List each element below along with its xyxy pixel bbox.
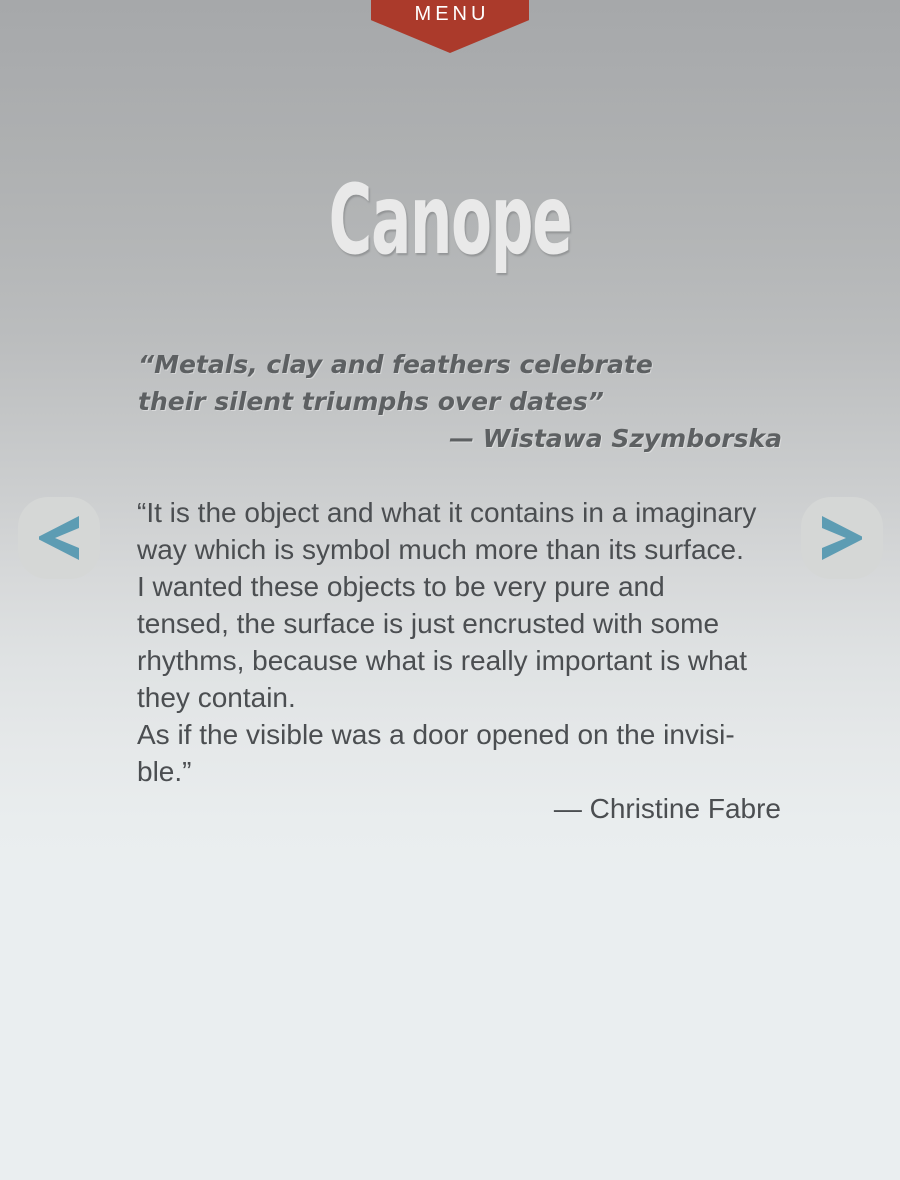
page-title: Canope [171,172,729,268]
statement-line-5: rhythms, because what is really importan… [137,642,797,679]
statement-line-2: way which is symbol much more than its s… [137,531,797,568]
epigraph-attribution: — Wistawa Szymborska [138,420,788,457]
epigraph-line-1: “Metals, clay and feathers celebrate [138,346,788,383]
statement-line-4: tensed, the surface is just encrusted wi… [137,605,797,642]
menu-button-label: MENU [411,0,490,24]
epigraph-quote: “Metals, clay and feathers celebrate the… [138,346,788,457]
next-slide-button[interactable] [801,497,883,579]
prev-slide-button[interactable] [18,497,100,579]
statement-line-6: they contain. [137,679,797,716]
menu-button[interactable]: MENU [371,0,529,53]
statement-attribution: — Christine Fabre [137,790,797,827]
statement-line-3: I wanted these objects to be very pure a… [137,568,797,605]
statement-line-8: ble.” [137,753,797,790]
statement-line-1: “It is the object and what it contains i… [137,494,797,531]
chevron-right-icon [820,514,864,562]
epigraph-line-2: their silent triumphs over dates” [138,383,788,420]
artist-statement: “It is the object and what it contains i… [137,494,797,827]
statement-line-7: As if the visible was a door opened on t… [137,716,797,753]
page-root: MENU Canope “Metals, clay and feathers c… [0,0,900,1180]
chevron-left-icon [37,514,81,562]
